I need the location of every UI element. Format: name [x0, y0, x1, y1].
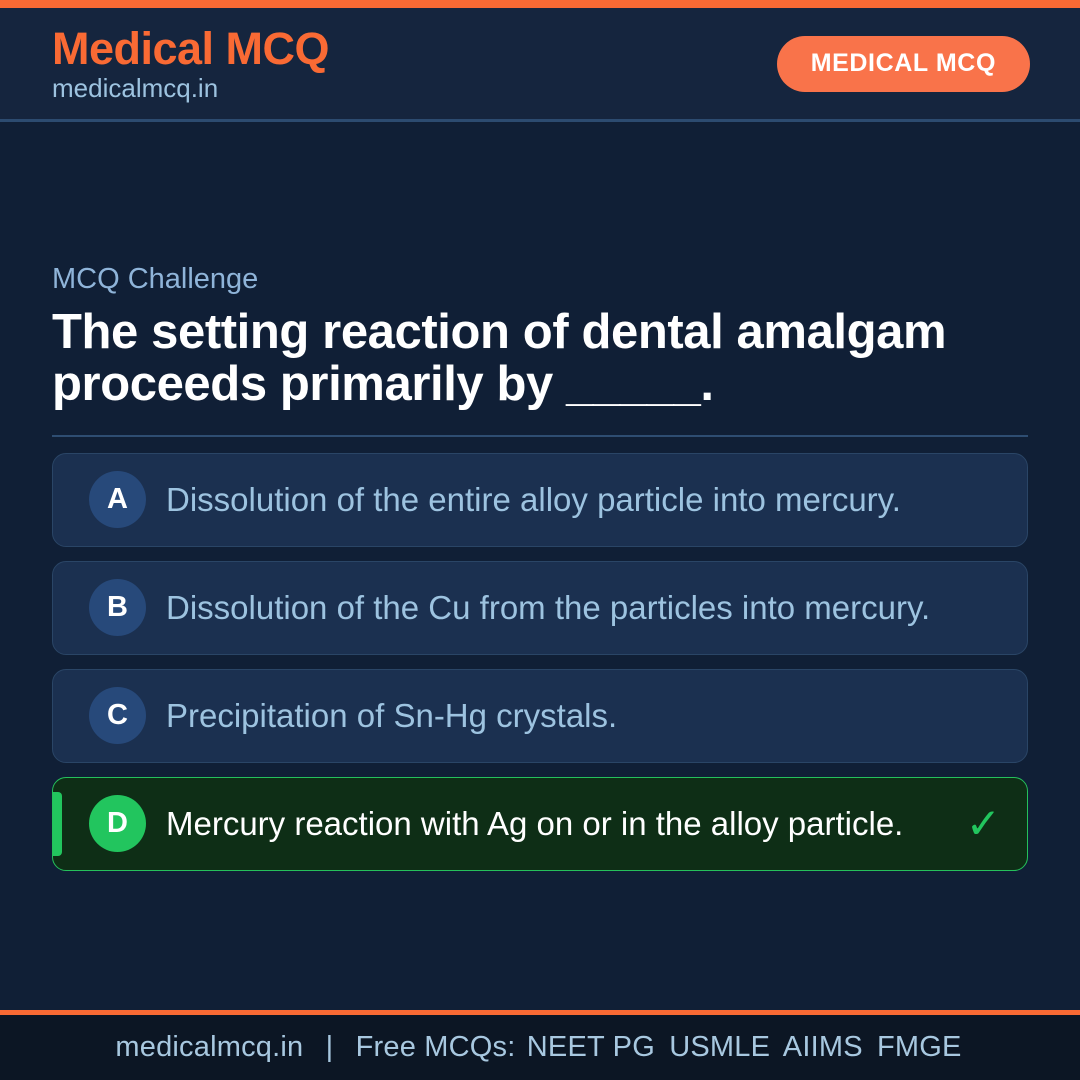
option-c[interactable]: CPrecipitation of Sn-Hg crystals.	[52, 669, 1028, 763]
footer-text: medicalmcq.in | Free MCQs: NEET PG USMLE…	[115, 1031, 964, 1064]
footer-exam-list: NEET PG USMLE AIIMS FMGE	[524, 1031, 965, 1063]
option-text: Precipitation of Sn-Hg crystals.	[166, 697, 1001, 735]
eyebrow-label: MCQ Challenge	[52, 262, 1028, 297]
mcq-card-page: Medical MCQ medicalmcq.in MEDICAL MCQ MC…	[0, 0, 1080, 1080]
option-text: Mercury reaction with Ag on or in the al…	[166, 805, 950, 843]
page-footer: medicalmcq.in | Free MCQs: NEET PG USMLE…	[0, 1010, 1080, 1080]
header-badge[interactable]: MEDICAL MCQ	[777, 36, 1030, 92]
question-block: MCQ Challenge The setting reaction of de…	[52, 262, 1028, 411]
check-icon: ✓	[966, 803, 1001, 845]
brand-domain: medicalmcq.in	[52, 74, 329, 103]
option-text: Dissolution of the entire alloy particle…	[166, 481, 1001, 519]
option-letter-badge: D	[89, 795, 146, 852]
footer-exam-aiims[interactable]: AIIMS	[773, 1031, 866, 1063]
option-b[interactable]: BDissolution of the Cu from the particle…	[52, 561, 1028, 655]
option-a[interactable]: ADissolution of the entire alloy particl…	[52, 453, 1028, 547]
option-letter-badge: B	[89, 579, 146, 636]
option-letter-badge: C	[89, 687, 146, 744]
page-header: Medical MCQ medicalmcq.in MEDICAL MCQ	[0, 8, 1080, 122]
option-letter-badge: A	[89, 471, 146, 528]
footer-exam-neet-pg[interactable]: NEET PG	[524, 1031, 658, 1063]
question-text: The setting reaction of dental amalgam p…	[52, 307, 1028, 411]
top-accent-bar	[0, 0, 1080, 8]
options-list: ADissolution of the entire alloy particl…	[52, 453, 1028, 871]
footer-exam-usmle[interactable]: USMLE	[658, 1031, 773, 1063]
footer-exam-fmge[interactable]: FMGE	[866, 1031, 965, 1063]
correct-accent-bar	[53, 792, 62, 856]
question-divider	[52, 435, 1028, 437]
footer-exams-label: Free MCQs:	[356, 1031, 516, 1063]
brand-block: Medical MCQ medicalmcq.in	[52, 25, 329, 103]
main-content: MCQ Challenge The setting reaction of de…	[0, 122, 1080, 1010]
option-text: Dissolution of the Cu from the particles…	[166, 589, 1001, 627]
option-d[interactable]: DMercury reaction with Ag on or in the a…	[52, 777, 1028, 871]
footer-site[interactable]: medicalmcq.in	[115, 1031, 303, 1063]
brand-title: Medical MCQ	[52, 25, 329, 72]
footer-separator: |	[312, 1031, 348, 1063]
